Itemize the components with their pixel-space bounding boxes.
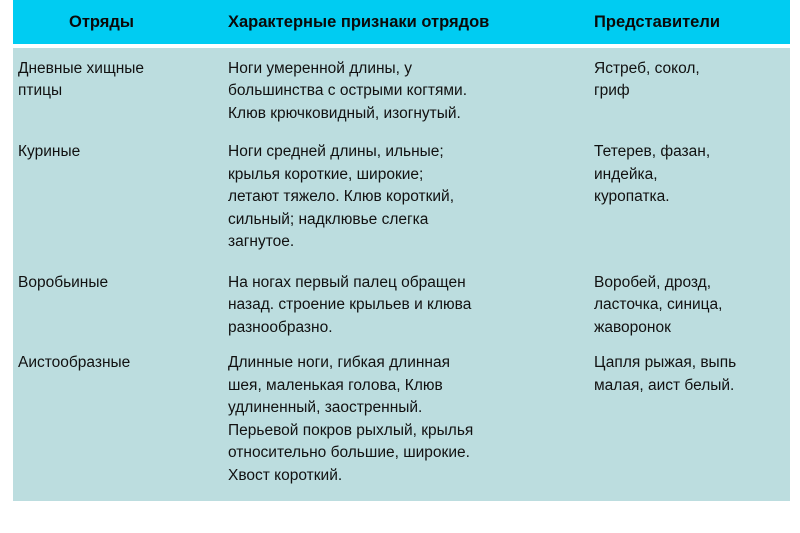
cell-order: Воробьиные	[13, 272, 228, 294]
table-body: Дневные хищные птицы Ноги умеренной длин…	[13, 48, 790, 501]
cell-traits: Ноги умеренной длины, у большинства с ос…	[228, 58, 582, 125]
cell-order: Дневные хищные птицы	[13, 58, 228, 103]
cell-order: Аистообразные	[13, 352, 228, 374]
table-row: Аистообразные Длинные ноги, гибкая длинн…	[13, 352, 790, 487]
cell-representatives: Воробей, дрозд, ласточка, синица, жаворо…	[582, 272, 790, 339]
column-header-traits: Характерные признаки отрядов	[228, 14, 582, 31]
cell-representatives: Тетерев, фазан, индейка, куропатка.	[582, 141, 790, 208]
table-row: Воробьиные На ногах первый палец обращен…	[13, 272, 790, 339]
cell-representatives: Цапля рыжая, выпь малая, аист белый.	[582, 352, 790, 397]
cell-traits: Ноги средней длины, ильные; крылья корот…	[228, 141, 582, 253]
row-spacer	[13, 254, 790, 272]
row-spacer	[13, 125, 790, 141]
cell-representatives: Ястреб, сокол, гриф	[582, 58, 790, 103]
table-row: Куриные Ноги средней длины, ильные; крыл…	[13, 141, 790, 253]
cell-traits: Длинные ноги, гибкая длинная шея, малень…	[228, 352, 582, 487]
bird-orders-table: Отряды Характерные признаки отрядов Пред…	[13, 0, 790, 501]
cell-traits: На ногах первый палец обращен назад. стр…	[228, 272, 582, 339]
table-row: Дневные хищные птицы Ноги умеренной длин…	[13, 58, 790, 125]
cell-order: Куриные	[13, 141, 228, 163]
column-header-orders: Отряды	[13, 14, 228, 31]
row-spacer	[13, 339, 790, 352]
table-header-row: Отряды Характерные признаки отрядов Пред…	[13, 0, 790, 44]
column-header-representatives: Представители	[582, 14, 790, 31]
